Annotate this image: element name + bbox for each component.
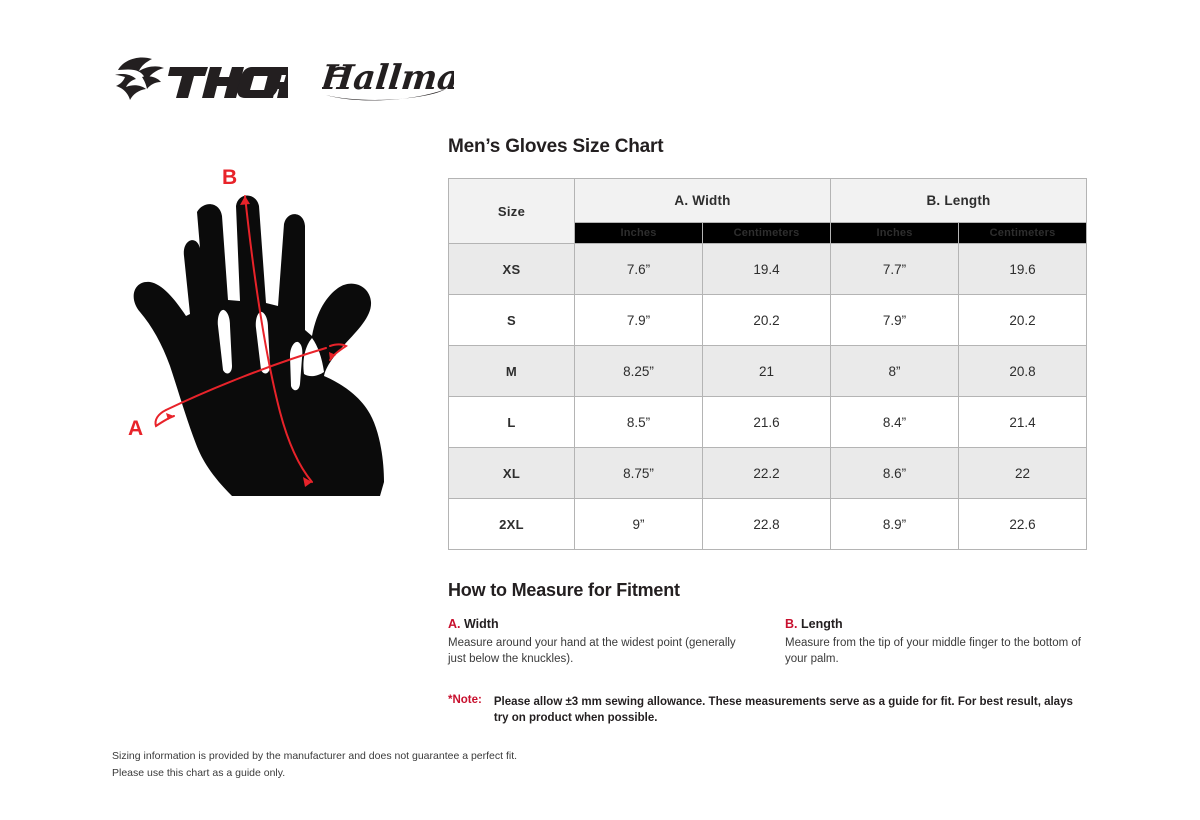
cell-length-cm: 22 <box>959 448 1087 499</box>
table-row: XS 7.6” 19.4 7.7” 19.6 <box>449 244 1087 295</box>
cell-width-cm: 21 <box>703 346 831 397</box>
cell-length-cm: 20.8 <box>959 346 1087 397</box>
cell-length-cm: 20.2 <box>959 295 1087 346</box>
page-title: Men’s Gloves Size Chart <box>448 136 1088 158</box>
measure-width-text: Measure around your hand at the widest p… <box>448 635 750 668</box>
cell-width-in: 7.6” <box>575 244 703 295</box>
label-b: B <box>222 166 237 189</box>
cell-width-in: 8.75” <box>575 448 703 499</box>
cell-length-in: 8.9” <box>831 499 959 550</box>
table-row: L 8.5” 21.6 8.4” 21.4 <box>449 397 1087 448</box>
table-row: 2XL 9” 22.8 8.9” 22.6 <box>449 499 1087 550</box>
table-header-row-groups: Size A. Width B. Length <box>449 179 1087 223</box>
header-width-centimeters: Centimeters <box>703 223 831 244</box>
hand-diagram-svg: A B <box>112 160 442 560</box>
cell-length-in: 7.9” <box>831 295 959 346</box>
size-chart-page: ® THOR Hallman Hallman <box>0 0 1200 820</box>
hallman-logo: Hallman Hallman <box>322 53 454 105</box>
measure-width-label: A. Width <box>448 617 750 632</box>
table-head: Size A. Width B. Length Inches Centimete… <box>449 179 1087 244</box>
svg-text:®: ® <box>280 93 284 100</box>
cell-size: L <box>449 397 575 448</box>
cell-width-in: 7.9” <box>575 295 703 346</box>
cell-width-cm: 19.4 <box>703 244 831 295</box>
header-size: Size <box>449 179 575 244</box>
note-row: *Note: Please allow ±3 mm sewing allowan… <box>448 694 1088 727</box>
measure-length-letter: B. <box>785 617 798 631</box>
footer-line-2: Please use this chart as a guide only. <box>112 765 517 782</box>
header-width-inches: Inches <box>575 223 703 244</box>
cell-length-in: 8.6” <box>831 448 959 499</box>
cell-length-cm: 22.6 <box>959 499 1087 550</box>
table-row: M 8.25” 21 8” 20.8 <box>449 346 1087 397</box>
note-text: Please allow ±3 mm sewing allowance. The… <box>494 694 1086 727</box>
cell-width-in: 8.25” <box>575 346 703 397</box>
measure-width-letter: A. <box>448 617 461 631</box>
svg-text:Hallman: Hallman <box>322 58 454 98</box>
cell-size: XS <box>449 244 575 295</box>
measure-width-name: Width <box>464 617 499 631</box>
cell-width-in: 8.5” <box>575 397 703 448</box>
chart-content: Men’s Gloves Size Chart Size A. Width B.… <box>448 136 1088 727</box>
measure-width-block: A. Width Measure around your hand at the… <box>448 617 750 668</box>
thor-logo: ® THOR <box>112 53 288 105</box>
cell-width-cm: 22.2 <box>703 448 831 499</box>
measure-length-text: Measure from the tip of your middle fing… <box>785 635 1087 668</box>
cell-length-in: 8.4” <box>831 397 959 448</box>
footer-disclaimer: Sizing information is provided by the ma… <box>112 748 517 782</box>
cell-width-cm: 21.6 <box>703 397 831 448</box>
header-length-centimeters: Centimeters <box>959 223 1087 244</box>
how-to-measure-section: How to Measure for Fitment A. Width Meas… <box>448 580 1088 727</box>
measure-columns: A. Width Measure around your hand at the… <box>448 617 1088 668</box>
label-a: A <box>128 417 143 440</box>
table-row: S 7.9” 20.2 7.9” 20.2 <box>449 295 1087 346</box>
cell-size: S <box>449 295 575 346</box>
brand-logo-bar: ® THOR Hallman Hallman <box>112 48 454 110</box>
header-length-group: B. Length <box>831 179 1087 223</box>
hand-measurement-diagram: A B <box>112 160 442 560</box>
cell-length-in: 7.7” <box>831 244 959 295</box>
cell-size: M <box>449 346 575 397</box>
cell-size: 2XL <box>449 499 575 550</box>
cell-length-in: 8” <box>831 346 959 397</box>
header-width-group: A. Width <box>575 179 831 223</box>
cell-width-in: 9” <box>575 499 703 550</box>
table-body: XS 7.6” 19.4 7.7” 19.6 S 7.9” 20.2 7.9” … <box>449 244 1087 550</box>
cell-width-cm: 20.2 <box>703 295 831 346</box>
cell-size: XL <box>449 448 575 499</box>
cell-length-cm: 21.4 <box>959 397 1087 448</box>
note-tag: *Note: <box>448 694 482 727</box>
size-chart-table: Size A. Width B. Length Inches Centimete… <box>448 178 1087 550</box>
measure-length-label: B. Length <box>785 617 1087 632</box>
cell-width-cm: 22.8 <box>703 499 831 550</box>
thor-logo-mark: ® <box>112 53 288 105</box>
table-row: XL 8.75” 22.2 8.6” 22 <box>449 448 1087 499</box>
measure-length-name: Length <box>801 617 843 631</box>
measure-length-block: B. Length Measure from the tip of your m… <box>785 617 1087 668</box>
cell-length-cm: 19.6 <box>959 244 1087 295</box>
hallman-logo-mark: Hallman <box>322 53 454 105</box>
footer-line-1: Sizing information is provided by the ma… <box>112 748 517 765</box>
header-length-inches: Inches <box>831 223 959 244</box>
how-to-measure-title: How to Measure for Fitment <box>448 580 1088 601</box>
